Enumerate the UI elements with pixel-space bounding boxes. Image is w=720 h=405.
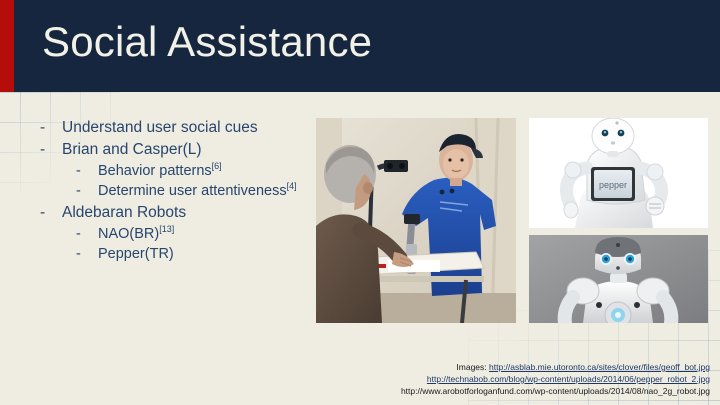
bullet-dash: - <box>76 162 98 181</box>
list-item-label: Pepper(TR) <box>98 245 318 264</box>
image-pepper-robot-graphic: pepper <box>529 118 708 228</box>
list-item: - Aldebaran Robots <box>40 203 318 223</box>
pepper-tablet-label: pepper <box>599 180 627 190</box>
credit-link-pepper-robot[interactable]: http://technabob.com/blog/wp-content/upl… <box>427 374 710 384</box>
image-brian-robot-graphic <box>316 118 516 323</box>
credit-link-geoff-bot[interactable]: http://asblab.mie.utoronto.ca/sites/clov… <box>489 362 710 372</box>
list-item: - Understand user social cues <box>40 118 318 138</box>
list-item-label: Determine user attentiveness[4] <box>98 182 318 201</box>
credit-line-2: http://technabob.com/blog/wp-content/upl… <box>401 373 710 385</box>
bullet-list: - Understand user social cues - Brian an… <box>40 118 318 266</box>
bullet-dash: - <box>76 245 98 264</box>
list-item: - Pepper(TR) <box>40 245 318 264</box>
bullet-dash: - <box>76 225 98 244</box>
list-item: - Behavior patterns[6] <box>40 162 318 181</box>
citation-marker: [4] <box>287 181 297 191</box>
list-item: - NAO(BR)[13] <box>40 225 318 244</box>
image-brian-robot <box>316 118 516 323</box>
bullet-dash: - <box>40 140 62 160</box>
citation-marker: [13] <box>159 224 174 234</box>
title-bar-accent <box>0 0 14 92</box>
credit-line-3: http://www.arobotforloganfund.com/wp-con… <box>401 385 710 397</box>
credit-link-nao-robot[interactable]: http://www.arobotforloganfund.com/wp-con… <box>401 386 710 396</box>
page-title: Social Assistance <box>42 18 372 66</box>
list-item-label: Behavior patterns[6] <box>98 162 318 181</box>
credits-label: Images: <box>456 362 489 372</box>
slide: Social Assistance - Understand user soci… <box>0 0 720 405</box>
image-nao-robot-graphic <box>529 235 708 323</box>
citation-marker: [6] <box>212 161 222 171</box>
image-pepper-robot: pepper <box>529 118 708 228</box>
image-nao-robot <box>529 235 708 323</box>
list-item: - Determine user attentiveness[4] <box>40 182 318 201</box>
list-item-label: Aldebaran Robots <box>62 203 318 223</box>
bullet-dash: - <box>40 118 62 138</box>
list-item-label: NAO(BR)[13] <box>98 225 318 244</box>
credit-line-1: Images: http://asblab.mie.utoronto.ca/si… <box>401 361 710 373</box>
list-item-label: Brian and Casper(L) <box>62 140 318 160</box>
list-item-label: Understand user social cues <box>62 118 318 138</box>
list-item: - Brian and Casper(L) <box>40 140 318 160</box>
bullet-dash: - <box>40 203 62 223</box>
image-credits: Images: http://asblab.mie.utoronto.ca/si… <box>401 361 710 397</box>
bullet-dash: - <box>76 182 98 201</box>
